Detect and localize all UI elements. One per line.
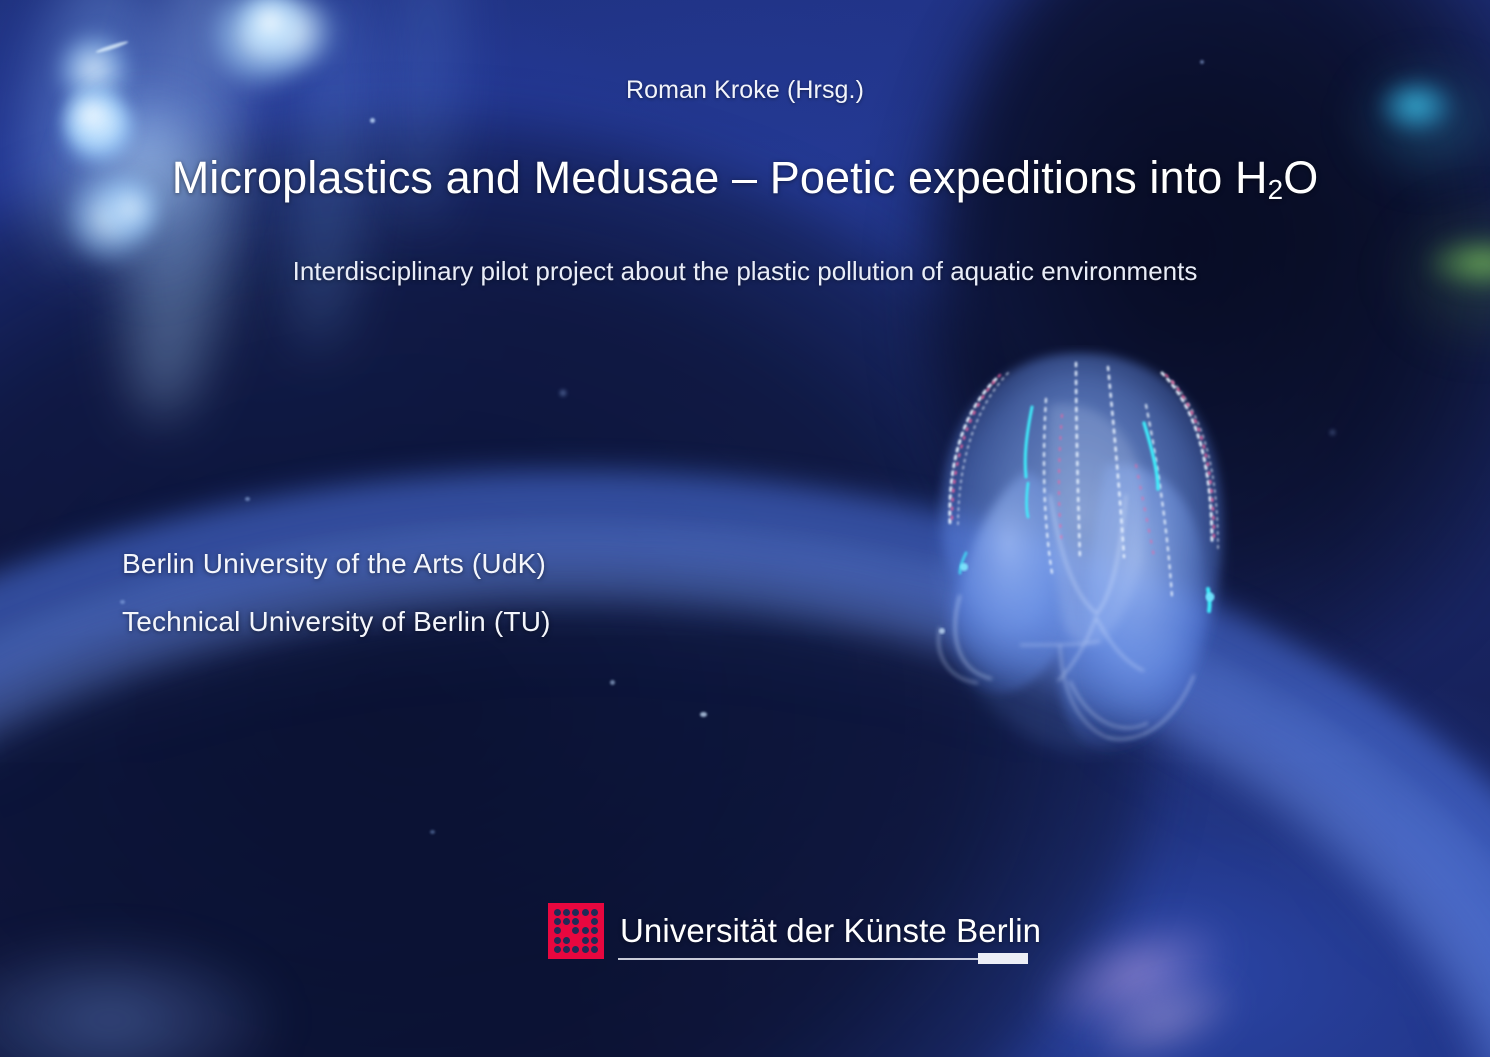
book-title-tail: O <box>1283 152 1318 203</box>
logo-dot <box>591 918 598 925</box>
logo-dot <box>572 918 579 925</box>
logo-dot <box>582 946 589 953</box>
logo-dot <box>591 927 598 934</box>
particle-8 <box>1330 430 1335 435</box>
udk-berlin-logo-icon <box>548 903 604 959</box>
particle-1 <box>370 118 375 123</box>
publisher-logo-block: Universität der Künste Berlin <box>548 900 1020 966</box>
book-title-subscript: 2 <box>1268 174 1284 205</box>
logo-dot <box>591 937 598 944</box>
particle-3 <box>700 712 707 717</box>
logo-dot <box>582 937 589 944</box>
logo-dot <box>582 909 589 916</box>
particle-6 <box>610 680 615 685</box>
book-title-main: Microplastics and Medusae – Poetic exped… <box>172 152 1268 203</box>
logo-underline-cap <box>978 953 1028 964</box>
logo-dot-grid <box>548 903 604 959</box>
book-title: Microplastics and Medusae – Poetic exped… <box>0 152 1490 206</box>
particle-2 <box>560 390 566 396</box>
logo-dot <box>554 937 561 944</box>
logo-dot <box>563 946 570 953</box>
logo-dot <box>591 946 598 953</box>
particle-7 <box>1200 60 1204 64</box>
particle-9 <box>430 830 435 834</box>
editor-credit: Roman Kroke (Hrsg.) <box>0 76 1490 105</box>
book-cover: Roman Kroke (Hrsg.) Microplastics and Me… <box>0 0 1490 1057</box>
logo-dot <box>554 918 561 925</box>
logo-dot <box>554 927 561 934</box>
book-subtitle: Interdisciplinary pilot project about th… <box>0 256 1490 287</box>
logo-dot <box>572 946 579 953</box>
logo-dot <box>563 937 570 944</box>
logo-dot <box>572 927 579 934</box>
logo-dot <box>554 909 561 916</box>
logo-dot <box>582 927 589 934</box>
institution-item: Berlin University of the Arts (UdK) <box>122 548 551 580</box>
institution-item: Technical University of Berlin (TU) <box>122 606 551 638</box>
comb-jelly-illustration <box>900 345 1260 775</box>
logo-underline <box>618 958 1020 960</box>
logo-dot <box>572 909 579 916</box>
logo-dot <box>554 946 561 953</box>
logo-dot <box>591 909 598 916</box>
logo-dot <box>563 918 570 925</box>
logo-dot <box>563 909 570 916</box>
particle-4 <box>245 497 250 501</box>
publisher-name: Universität der Künste Berlin <box>620 912 1041 950</box>
institutions-list: Berlin University of the Arts (UdK) Tech… <box>122 548 551 664</box>
